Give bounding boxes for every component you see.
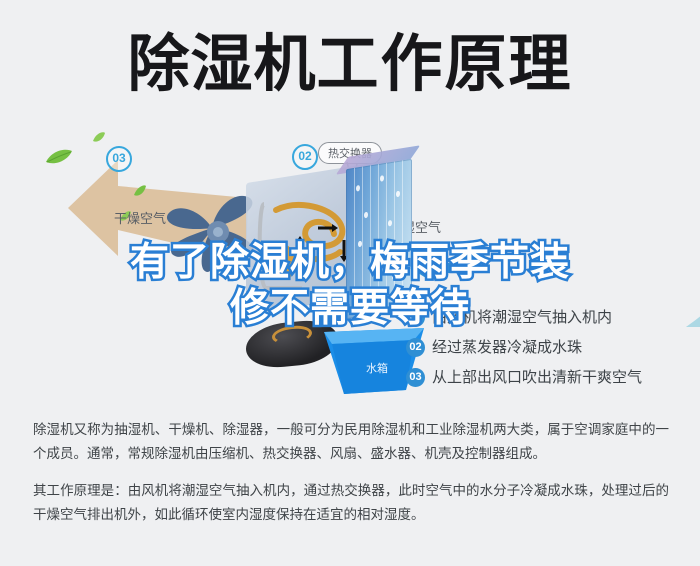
water-tank-label: 水箱	[366, 360, 388, 376]
leaf-icon	[44, 148, 74, 166]
label-dry-air: 干燥空气	[114, 208, 166, 227]
body-paragraph-2: 其工作原理是：由风机将潮湿空气抽入机内，通过热交换器，此时空气中的水分子冷凝成水…	[33, 479, 669, 527]
page-title-part2: 工作原理	[317, 30, 573, 99]
badge-03-dry-air: 03	[106, 146, 132, 172]
step-badge: 03	[406, 368, 425, 387]
leaf-icon	[133, 184, 147, 197]
step-text: 从上部出风口吹出清新干爽空气	[432, 363, 642, 393]
infographic-page: 除湿机工作原理 03 干燥空气 02 热交换器	[0, 0, 700, 566]
step-badge: 02	[406, 338, 425, 357]
overlay-line-1: 有了除湿机，梅雨季节装	[130, 241, 570, 284]
overlay-line-2: 修不需要等待	[0, 286, 700, 332]
page-title: 除湿机工作原理	[0, 30, 700, 100]
step-text: 经过蒸发器冷凝成水珠	[432, 333, 582, 363]
overlay-headline: 有了除湿机，梅雨季节装 修不需要等待	[0, 240, 700, 332]
leaf-icon	[92, 131, 106, 143]
body-copy: 除湿机又称为抽湿机、干燥机、除湿器，一般可分为民用除湿机和工业除湿机两大类，属于…	[33, 418, 669, 540]
step-item: 03 从上部出风口吹出清新干爽空气	[406, 363, 696, 393]
step-item: 02 经过蒸发器冷凝成水珠	[406, 333, 696, 363]
page-title-part1: 除湿机	[127, 30, 316, 99]
body-paragraph-1: 除湿机又称为抽湿机、干燥机、除湿器，一般可分为民用除湿机和工业除湿机两大类，属于…	[33, 418, 669, 466]
